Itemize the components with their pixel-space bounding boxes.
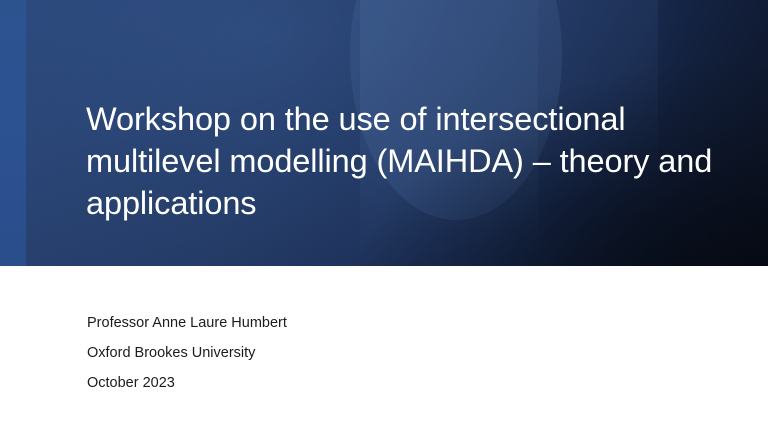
slide-subtitle-block: Professor Anne Laure Humbert Oxford Broo…	[87, 308, 647, 398]
presentation-date: October 2023	[87, 368, 647, 398]
presenter-name: Professor Anne Laure Humbert	[87, 308, 647, 338]
presenter-affiliation: Oxford Brookes University	[87, 338, 647, 368]
banner-left-accent-strip	[0, 0, 26, 266]
slide-title: Workshop on the use of intersectional mu…	[86, 98, 726, 224]
title-slide: Workshop on the use of intersectional mu…	[0, 0, 768, 432]
title-banner: Workshop on the use of intersectional mu…	[0, 0, 768, 266]
